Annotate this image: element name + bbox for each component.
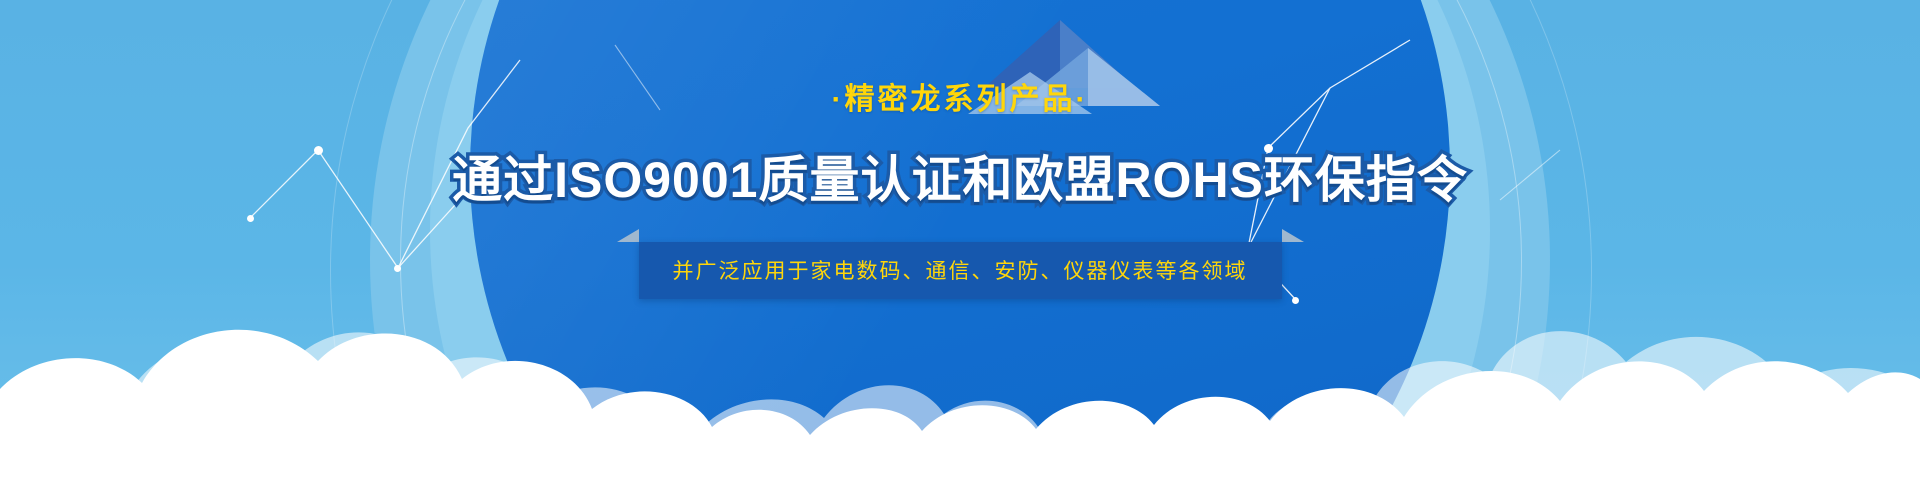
ribbon-fold-right-icon bbox=[1282, 229, 1304, 242]
ribbon-fold-left-icon bbox=[617, 229, 639, 242]
banner-ribbon-wrap: 并广泛应用于家电数码、通信、安防、仪器仪表等各领域 bbox=[639, 242, 1282, 299]
banner-content: ·精密龙系列产品· 通过ISO9001质量认证和欧盟ROHS环保指令 并广泛应用… bbox=[0, 0, 1920, 480]
promo-banner: ·精密龙系列产品· 通过ISO9001质量认证和欧盟ROHS环保指令 并广泛应用… bbox=[0, 0, 1920, 480]
banner-eyebrow: ·精密龙系列产品· bbox=[832, 74, 1089, 118]
banner-ribbon-text: 并广泛应用于家电数码、通信、安防、仪器仪表等各领域 bbox=[639, 242, 1282, 299]
banner-headline: 通过ISO9001质量认证和欧盟ROHS环保指令 bbox=[452, 140, 1468, 212]
